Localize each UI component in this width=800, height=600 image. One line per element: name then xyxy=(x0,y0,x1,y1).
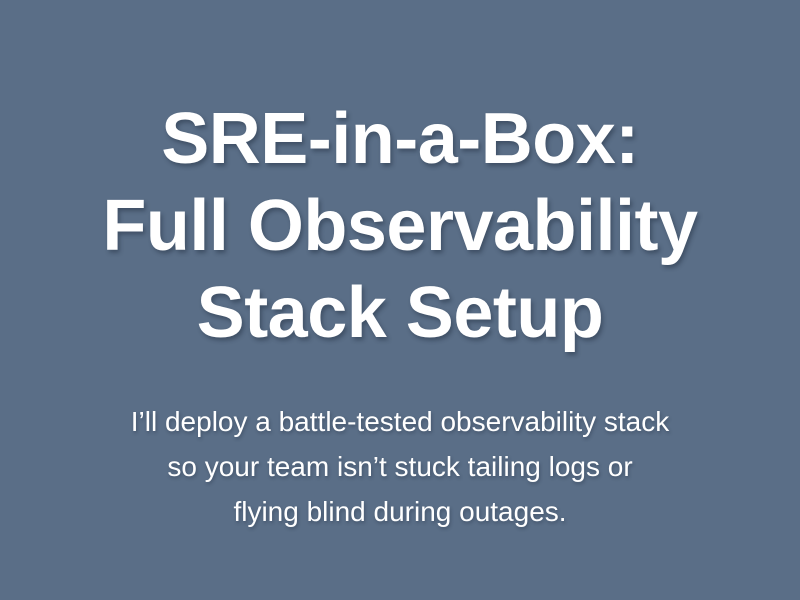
subtitle-line-3: flying blind during outages. xyxy=(0,489,800,534)
slide-root: SRE-in-a-Box: Full Observability Stack S… xyxy=(0,0,800,600)
title-line-2: Full Observability xyxy=(0,183,800,270)
page-subtitle: I’ll deploy a battle-tested observabilit… xyxy=(0,399,800,534)
subtitle-line-2: so your team isn’t stuck tailing logs or xyxy=(0,444,800,489)
title-line-1: SRE-in-a-Box: xyxy=(0,96,800,183)
title-line-3: Stack Setup xyxy=(0,270,800,357)
subtitle-line-1: I’ll deploy a battle-tested observabilit… xyxy=(0,399,800,444)
page-title: SRE-in-a-Box: Full Observability Stack S… xyxy=(0,96,800,357)
